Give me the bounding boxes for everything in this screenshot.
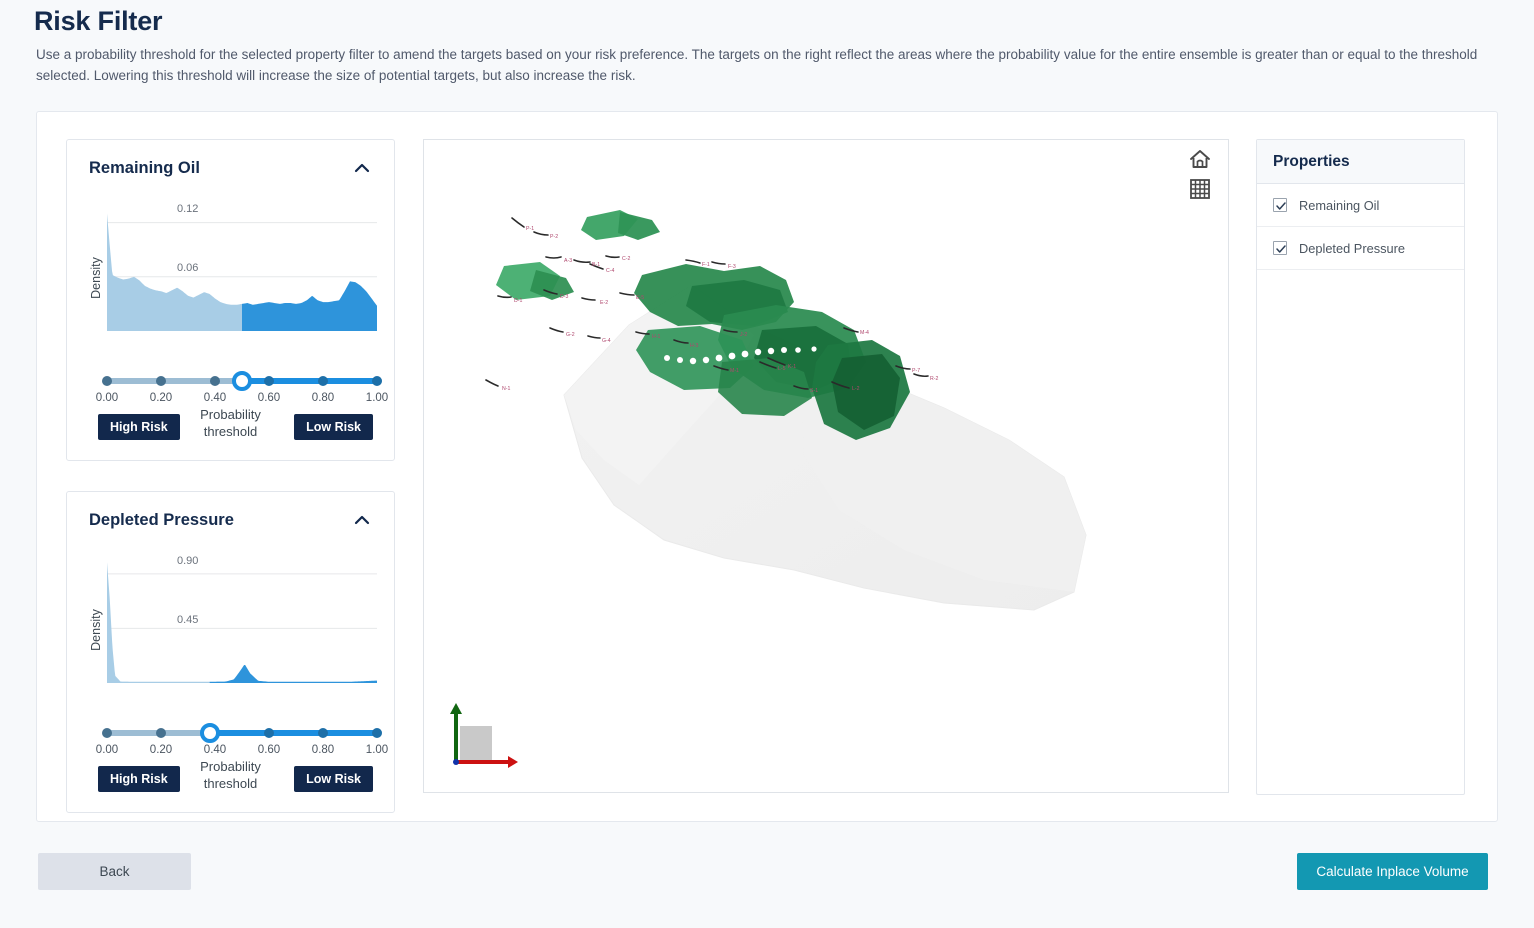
svg-text:C-4: C-4	[606, 268, 614, 274]
svg-text:R-2: R-2	[930, 376, 938, 382]
checkbox-remaining-oil[interactable]	[1273, 198, 1287, 212]
slider-handle[interactable]	[232, 371, 252, 391]
properties-title: Properties	[1273, 153, 1350, 171]
density-chart-remaining-oil: Density 0.12 0.06 0.000.200.400.600.801.…	[67, 194, 394, 362]
svg-text:G-4: G-4	[602, 338, 611, 344]
svg-text:J-2: J-2	[740, 332, 747, 338]
svg-text:E-5: E-5	[636, 295, 644, 301]
svg-text:S-1: S-1	[810, 388, 818, 394]
slider-handle[interactable]	[200, 723, 220, 743]
svg-text:D-1: D-1	[514, 298, 522, 304]
svg-text:F-3: F-3	[728, 264, 736, 270]
slider-tick-dot[interactable]	[372, 728, 382, 738]
svg-text:M-1: M-1	[730, 368, 739, 374]
slider-tick-dot[interactable]	[318, 376, 328, 386]
calculate-inplace-volume-button[interactable]: Calculate Inplace Volume	[1297, 853, 1488, 890]
svg-text:P-7: P-7	[912, 368, 920, 374]
svg-text:B-1: B-1	[592, 262, 600, 268]
slider-track-high[interactable]	[242, 378, 377, 384]
slider-tick-dot[interactable]	[156, 728, 166, 738]
density-plot-area	[107, 552, 377, 683]
slider-tick-dot[interactable]	[372, 376, 382, 386]
axis-gizmo-icon	[438, 700, 518, 780]
svg-text:N-1: N-1	[502, 386, 510, 392]
filter-card-remaining-oil: Remaining Oil Density 0.12 0.06	[66, 139, 395, 461]
svg-text:P-1: P-1	[526, 226, 534, 232]
viewer-toolbar[interactable]	[1187, 146, 1217, 206]
density-plot-area	[107, 200, 377, 331]
grid-icon[interactable]	[1187, 176, 1213, 202]
svg-text:P-2: P-2	[550, 234, 558, 240]
slider-tick-dot[interactable]	[102, 728, 112, 738]
svg-text:C-2: C-2	[622, 256, 630, 262]
slider-track-low[interactable]	[107, 378, 242, 384]
risk-footer: High Risk Probability threshold Low Risk	[67, 402, 394, 460]
svg-text:L-2: L-2	[852, 386, 860, 392]
properties-header: Properties	[1257, 140, 1464, 184]
property-row-depleted-pressure[interactable]: Depleted Pressure	[1257, 227, 1464, 270]
filter-header: Depleted Pressure	[67, 492, 394, 538]
svg-text:G-2: G-2	[566, 332, 575, 338]
y-axis-label: Density	[89, 609, 103, 651]
low-risk-badge[interactable]: Low Risk	[294, 766, 373, 792]
svg-text:D-3: D-3	[560, 294, 568, 300]
slider-track-high[interactable]	[210, 730, 377, 736]
svg-text:H-1: H-1	[652, 334, 660, 340]
svg-text:A-3: A-3	[564, 258, 572, 264]
filter-panel: Remaining Oil Density 0.12 0.06	[66, 139, 395, 813]
slider-tick-dot[interactable]	[210, 376, 220, 386]
probability-threshold-slider-depleted-pressure[interactable]	[107, 726, 377, 740]
model-viewer[interactable]: P-1P-2 A-3B-1 C-2C-4 D-1D-3 E-2E-5 F-1F-…	[423, 139, 1229, 793]
filter-header: Remaining Oil	[67, 140, 394, 186]
reservoir-model[interactable]: P-1P-2 A-3B-1 C-2C-4 D-1D-3 E-2E-5 F-1F-…	[424, 140, 1230, 794]
svg-text:M-4: M-4	[860, 330, 869, 336]
page-description: Use a probability threshold for the sele…	[36, 44, 1486, 86]
svg-text:E-2: E-2	[600, 300, 608, 306]
content-card: Remaining Oil Density 0.12 0.06	[36, 111, 1498, 822]
filter-title: Depleted Pressure	[89, 511, 234, 530]
risk-footer: High Risk Probability threshold Low Risk	[67, 754, 394, 812]
svg-text:K-1: K-1	[788, 364, 796, 370]
chevron-up-icon[interactable]	[352, 158, 372, 178]
back-button[interactable]: Back	[38, 853, 191, 890]
svg-text:H-3: H-3	[690, 343, 698, 349]
slider-tick-dot[interactable]	[102, 376, 112, 386]
slider-tick-dot[interactable]	[264, 728, 274, 738]
probability-threshold-slider-remaining-oil[interactable]	[107, 374, 377, 388]
svg-text:F-1: F-1	[702, 262, 710, 268]
slider-tick-dot[interactable]	[318, 728, 328, 738]
properties-panel: Properties Remaining Oil Depleted Pressu…	[1256, 139, 1465, 795]
risk-filter-page: Risk Filter Use a probability threshold …	[0, 0, 1534, 928]
density-chart-depleted-pressure: Density 0.90 0.45 0.000.200.400.600.801.…	[67, 546, 394, 714]
low-risk-badge[interactable]: Low Risk	[294, 414, 373, 440]
filter-card-depleted-pressure: Depleted Pressure Density 0.90 0.45	[66, 491, 395, 813]
slider-tick-dot[interactable]	[156, 376, 166, 386]
home-icon[interactable]	[1187, 146, 1213, 172]
property-label: Remaining Oil	[1299, 198, 1379, 213]
svg-text:L-5: L-5	[778, 366, 786, 372]
chevron-up-icon[interactable]	[352, 510, 372, 530]
property-row-remaining-oil[interactable]: Remaining Oil	[1257, 184, 1464, 227]
y-axis-label: Density	[89, 257, 103, 299]
page-title: Risk Filter	[34, 6, 162, 37]
filter-title: Remaining Oil	[89, 159, 200, 178]
property-label: Depleted Pressure	[1299, 241, 1405, 256]
checkbox-depleted-pressure[interactable]	[1273, 241, 1287, 255]
slider-tick-dot[interactable]	[264, 376, 274, 386]
